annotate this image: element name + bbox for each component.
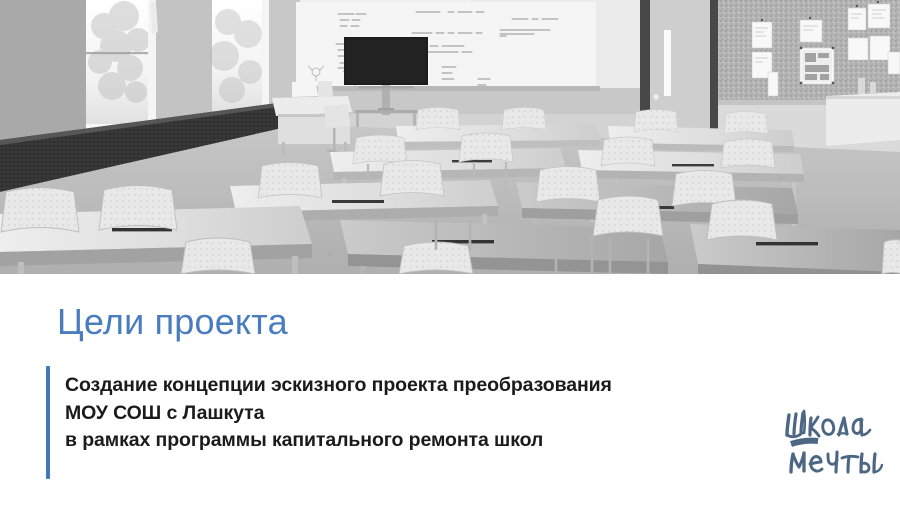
body-line-2: МОУ СОШ с Лашкута [65,400,612,428]
accent-bar [46,366,50,479]
classroom-photo [0,0,900,274]
body-line-3: в рамках программы капитального ремонта … [65,427,612,455]
body-text: Создание концепции эскизного проекта пре… [65,372,612,455]
shkola-mechty-logo [782,402,888,478]
classroom-photo-graphic [0,0,900,274]
body-line-1: Создание концепции эскизного проекта пре… [65,372,612,400]
page-title: Цели проекта [57,301,288,343]
shkola-mechty-logo-mark [782,402,888,478]
presentation-slide: Цели проекта Создание концепции эскизног… [0,0,900,506]
